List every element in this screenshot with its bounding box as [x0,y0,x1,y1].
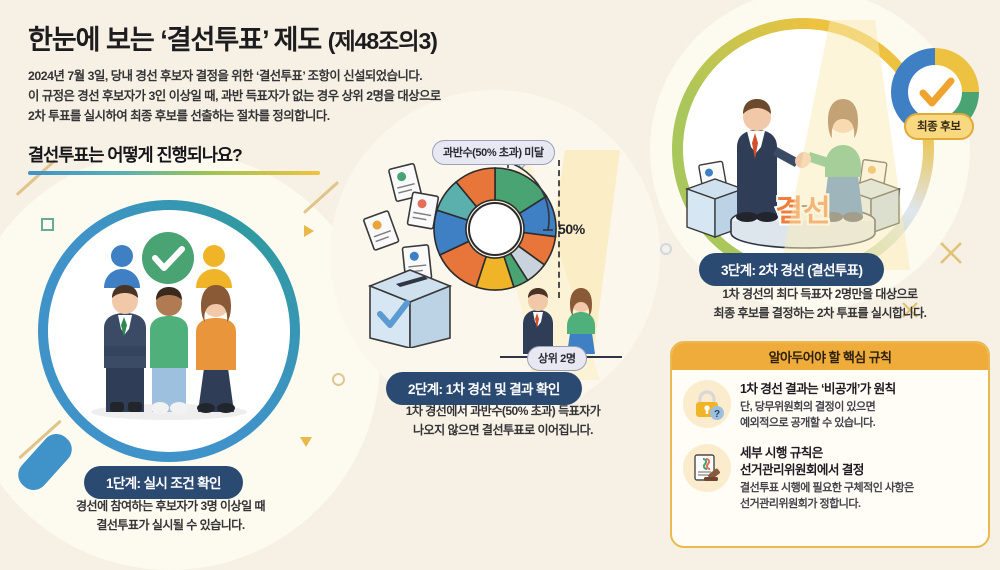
rule-body-regulations: 결선투표 시행에 필요한 구체적인 사항은 선거관리위원회가 정합니다. [740,481,914,513]
candidate-figure-2 [150,287,188,414]
two-finalists [505,268,615,358]
finalist-male [523,288,553,354]
step1-illustration [48,210,290,452]
intro-line-3: 2차 투표를 실시하여 최종 후보를 선출하는 절차를 정의합니다. [28,107,648,127]
intro-line-2: 이 규정은 경선 후보자가 3인 이상일 때, 과반 득표자가 없는 경우 상위… [28,87,648,107]
user-pictogram-checked [142,232,194,284]
key-rules-heading: 알아두어야 할 핵심 규칙 [672,343,988,370]
decor-slash-b [303,181,339,214]
section-subheading: 결선투표는 어떻게 진행되나요? [28,142,242,167]
user-pictogram-yellow [196,245,232,288]
rule-text-confidential: 1차 경선 결과는 ‘비공개’가 원칙 단, 당무위원회의 결정이 있으면 예외… [740,380,896,432]
step2-description: 1차 경선에서 과반수(50% 초과) 득표자가 나오지 않으면 결선투표로 이… [362,402,644,439]
ballot-paper-yellow [363,211,399,251]
rule-item-confidential: ? 1차 경선 결과는 ‘비공개’가 원칙 단, 당무위원회의 결정이 있으면 … [672,370,988,432]
page-title-main: 한눈에 보는 ‘결선투표’ 제도 [28,25,321,55]
subheading-underline [28,171,320,175]
step3-pill: 3단계: 2차 경선 (결선투표) [699,253,884,286]
rule-body-confidential: 단, 당무위원회의 결정이 있으면 예외적으로 공개할 수 있습니다. [740,400,896,432]
user-pictogram-blue [104,245,140,288]
arc-bracket [486,156,566,256]
rule-text-regulations: 세부 시행 규칙은 선거관리위원회에서 결정 결선투표 시행에 필요한 구체적인… [740,444,914,513]
fifty-percent-arc-indicator [486,156,566,256]
step1-circle [38,200,300,462]
finalist-female [567,288,595,354]
top-two-figures-illustration [505,268,615,358]
step1-description: 경선에 참여하는 후보자가 3명 이상일 때 결선투표가 실시될 수 있습니다. [28,497,313,534]
document-gavel-icon-svg [690,451,724,485]
page-title-article: (제48조의3) [328,28,437,54]
candidate-figure-1 [104,285,146,412]
three-candidates-illustration [54,216,284,446]
step1-pill: 1단계: 실시 조건 확인 [84,466,243,499]
decor-triangle-down-left [300,437,312,447]
final-candidate-badge-group [887,44,983,162]
intro-paragraph: 2024년 7월 3일, 당내 경선 후보자 결정을 위한 ‘결선투표’ 조항이… [28,67,648,127]
document-gavel-icon [683,444,731,492]
infographic-canvas: 한눈에 보는 ‘결선투표’ 제도 (제48조의3) 2024년 7월 3일, 당… [0,0,1000,558]
top-two-label: 상위 2명 [527,346,587,371]
decor-triangle-left [304,225,314,237]
key-rules-card: 알아두어야 할 핵심 규칙 ? 1차 경선 결과는 ‘비공개’가 원칙 단, 당… [670,341,990,548]
step2-pill: 2단계: 1차 경선 및 결과 확인 [386,372,582,405]
rule-item-regulations: 세부 시행 규칙은 선거관리위원회에서 결정 결선투표 시행에 필요한 구체적인… [672,432,988,513]
lock-question-icon: ? [683,380,731,428]
step3-description: 1차 경선의 최다 득표자 2명만을 대상으로 최종 후보를 결정하는 2차 투… [664,285,976,322]
fifty-percent-value: 50% [558,221,585,237]
rule-title-regulations: 세부 시행 규칙은 선거관리위원회에서 결정 [740,445,914,479]
decor-square-teal [41,218,54,231]
rule-title-confidential: 1차 경선 결과는 ‘비공개’가 원칙 [740,381,896,398]
svg-text:?: ? [714,409,720,420]
intro-line-1: 2024년 7월 3일, 당내 경선 후보자 결정을 위한 ‘결선투표’ 조항이… [28,67,648,87]
final-candidate-label: 최종 후보 [904,113,974,140]
lock-icon-svg: ? [690,387,724,421]
candidate-figure-3 [196,285,236,413]
header: 한눈에 보는 ‘결선투표’ 제도 (제48조의3) 2024년 7월 3일, 당… [28,18,648,175]
page-title: 한눈에 보는 ‘결선투표’ 제도 (제48조의3) [28,18,648,57]
decor-circle-gold-left [332,373,345,386]
majority-shortfall-label: 과반수(50% 초과) 미달 [432,140,555,165]
